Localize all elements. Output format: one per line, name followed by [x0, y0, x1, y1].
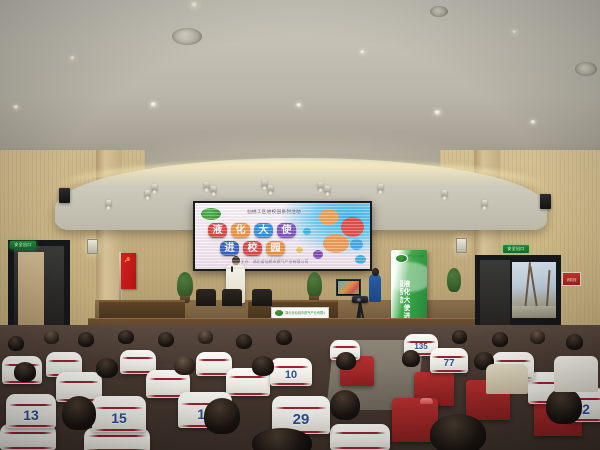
ceiling-vent [172, 28, 202, 45]
ceiling-downlight [434, 110, 441, 115]
stage-spotlight [442, 190, 447, 198]
confidence-monitor [336, 279, 361, 296]
podium-logo-icon [275, 310, 283, 316]
audience-head [236, 334, 252, 349]
slide-title-char: 大 [254, 223, 273, 238]
audience-head [566, 334, 583, 350]
auditorium-seat[interactable]: 13 [6, 394, 56, 428]
potted-plant [307, 272, 322, 298]
stage-spotlight [211, 186, 216, 194]
ceiling-downlight [512, 30, 517, 34]
slide-title-line-1: 液 化 大 使 [208, 223, 296, 238]
potted-plant [177, 272, 193, 298]
audience-head [118, 330, 134, 344]
slide-organizer-logo [200, 207, 222, 221]
slide-bubble [350, 239, 363, 250]
left-wall-speaker [59, 188, 70, 203]
stage-spotlight [145, 190, 150, 198]
slide-bubble [323, 234, 349, 253]
audience-head [430, 414, 486, 450]
ceiling-downlight [530, 120, 536, 124]
audience-head [96, 358, 118, 378]
slide-title-char: 园 [266, 241, 285, 256]
staff-in-blue-jacket [369, 274, 381, 302]
slide-header-text: 仙桃工区进校园系列活动 [228, 208, 320, 216]
audience-head [14, 362, 36, 382]
potted-plant [447, 268, 461, 292]
audience-head [44, 330, 59, 344]
slide-title-char: 液 [208, 223, 227, 238]
audience-head [204, 398, 240, 434]
seat-number-label: 15 [92, 411, 146, 425]
audience-head [8, 336, 24, 351]
student-shoe [420, 398, 433, 404]
exit-sign-right: 安全出口 [503, 245, 529, 253]
audience-head [252, 428, 312, 450]
podium-top-text: 湖北省仙桃市燃气产业有限公司 [285, 310, 325, 315]
audience-head [158, 332, 174, 347]
slide-title-char: 使 [277, 223, 296, 238]
auditorium-seat[interactable] [330, 424, 390, 450]
ceiling-downlight [296, 103, 302, 107]
stage-spotlight [268, 185, 273, 193]
microphone-icon [231, 266, 233, 272]
right-wall-speaker [540, 194, 551, 209]
auditorium-seat[interactable]: 77 [430, 348, 468, 373]
wall-sconce-right [456, 238, 467, 253]
audience-torso [554, 356, 598, 392]
slide-bubble [355, 255, 366, 264]
slide-bubble [341, 217, 364, 237]
presenter-head [232, 256, 240, 265]
banner-logo-icon [395, 254, 408, 263]
auditorium-photo: 仙桃工区进校园系列活动 液 化 大 使 进 校 园 主办：湖北省仙桃市燃气产业有… [0, 0, 600, 450]
slide-bubble [319, 209, 339, 225]
audience-head [546, 388, 582, 424]
slide-title-char: 进 [220, 241, 239, 256]
stage-spotlight [152, 184, 157, 192]
ceiling-downlight [70, 56, 75, 60]
stage-spotlight [204, 182, 209, 190]
audience-head [62, 396, 96, 430]
seat-number-label: 77 [430, 359, 468, 369]
slide-title-char: 化 [231, 223, 250, 238]
stage-chair [222, 289, 242, 306]
stage-chair [196, 289, 216, 306]
ceiling-downlight [360, 50, 365, 54]
staff-head [372, 268, 379, 276]
seat-number-label: 29 [272, 412, 330, 427]
audience-head [252, 356, 274, 376]
outdoor-wall [512, 306, 556, 318]
auditorium-seat[interactable]: 10 [270, 358, 312, 386]
seat-number-label: 10 [270, 370, 312, 381]
audience-head [336, 352, 356, 370]
audience-head [78, 332, 94, 347]
audience-head [276, 330, 292, 345]
ceiling-downlight [190, 2, 199, 8]
audience-head [402, 350, 420, 367]
stage-spotlight [482, 200, 487, 208]
wall-sconce-left [87, 239, 98, 254]
camera-on-tripod [352, 296, 368, 303]
stage-spotlight [262, 180, 267, 188]
slide-title-line-2: 进 校 园 [220, 241, 285, 256]
audience-head [492, 332, 508, 347]
stage-spotlight [378, 184, 383, 192]
led-display-screen: 仙桃工区进校园系列活动 液 化 大 使 进 校 园 主办：湖北省仙桃市燃气产业有… [193, 201, 372, 271]
stage-spotlight [106, 200, 111, 208]
exit-sign-left: 安全出口 [10, 241, 36, 249]
slide-bubble [296, 247, 303, 253]
ceiling-downlight [150, 102, 157, 107]
party-emblem-icon: ☭ [124, 257, 130, 264]
banner-header-text: 燃气安全进校园 [408, 254, 424, 260]
audience-head [452, 330, 467, 344]
slide-bubble [303, 228, 311, 235]
seat-number-label: 13 [6, 408, 56, 422]
stage-spotlight [325, 186, 330, 194]
audience-torso [486, 364, 528, 394]
monitor-screen [338, 281, 359, 294]
stage-chair [252, 289, 272, 306]
slide-title-char: 校 [243, 241, 262, 256]
audience-head [198, 330, 213, 344]
auditorium-seat[interactable]: 15 [92, 396, 146, 432]
audience-head [530, 330, 545, 344]
ceiling-downlight [13, 105, 19, 109]
red-wall-sign: 消防栓 [562, 272, 581, 286]
ceiling-vent [575, 62, 597, 76]
audience-head [330, 390, 360, 420]
ceiling-vent [430, 6, 448, 17]
stage-spotlight [318, 182, 323, 190]
audience-head [174, 356, 195, 375]
